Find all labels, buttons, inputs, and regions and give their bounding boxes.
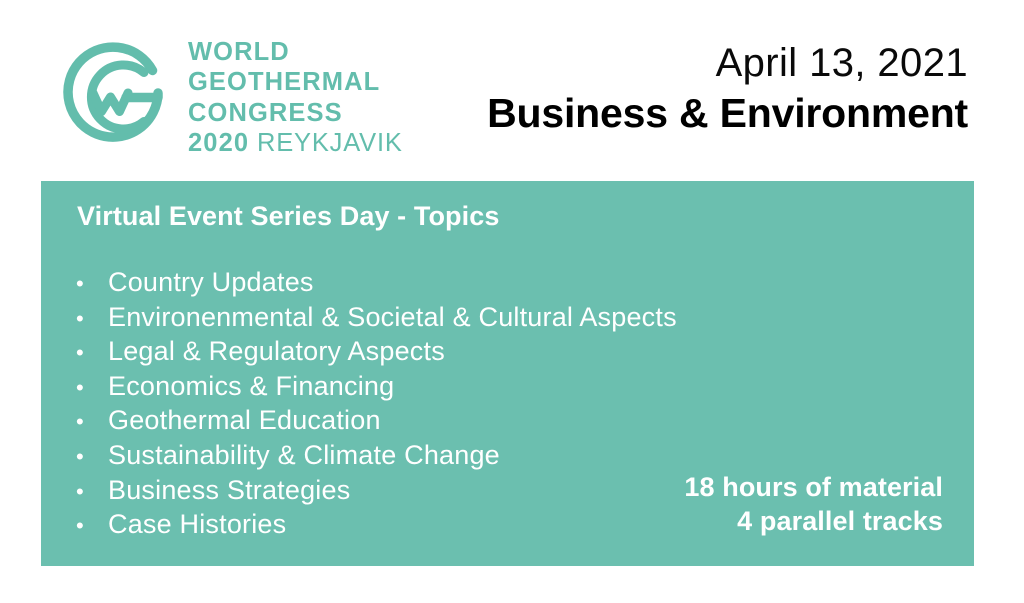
topic-label: Legal & Regulatory Aspects (108, 336, 445, 367)
topic-label: Sustainability & Climate Change (108, 440, 500, 471)
wgc-g-w-monogram-icon (52, 36, 174, 158)
stats-block: 18 hours of material 4 parallel tracks (684, 470, 943, 539)
panel-heading: Virtual Event Series Day - Topics (77, 201, 499, 232)
wordmark-line-congress: CONGRESS (188, 101, 403, 127)
event-date: April 13, 2021 (487, 42, 968, 84)
list-item: • Environenmental & Societal & Cultural … (72, 302, 677, 337)
bullet-icon: • (72, 515, 108, 537)
wordmark-city (249, 129, 257, 157)
topic-label: Business Strategies (108, 475, 350, 506)
topic-label: Economics & Financing (108, 371, 394, 402)
list-item: • Sustainability & Climate Change (72, 440, 677, 475)
list-item: • Economics & Financing (72, 371, 677, 406)
topic-label: Case Histories (108, 509, 286, 540)
topics-panel: Virtual Event Series Day - Topics • Coun… (41, 181, 974, 566)
wordmark-city-name: REYKJAVIK (257, 129, 403, 157)
bullet-icon: • (72, 411, 108, 433)
congress-wordmark: WORLD GEOTHERMAL CONGRESS 2020 REYKJAVIK (188, 40, 403, 157)
slide-root: WORLD GEOTHERMAL CONGRESS 2020 REYKJAVIK… (0, 0, 1024, 603)
event-title: Business & Environment (487, 91, 968, 136)
topic-label: Geothermal Education (108, 405, 381, 436)
topic-label: Environenmental & Societal & Cultural As… (108, 302, 677, 333)
bullet-icon: • (72, 446, 108, 468)
header-right-block: April 13, 2021 Business & Environment (487, 42, 968, 136)
list-item: • Business Strategies (72, 475, 677, 510)
bullet-icon: • (72, 481, 108, 503)
list-item: • Legal & Regulatory Aspects (72, 336, 677, 371)
list-item: • Country Updates (72, 267, 677, 302)
topics-list: • Country Updates • Environenmental & So… (72, 267, 677, 544)
congress-logo: WORLD GEOTHERMAL CONGRESS 2020 REYKJAVIK (52, 36, 403, 158)
topic-label: Country Updates (108, 267, 314, 298)
wordmark-line-year-city: 2020 REYKJAVIK (188, 131, 403, 157)
wordmark-year: 2020 (188, 129, 249, 157)
bullet-icon: • (72, 342, 108, 364)
wordmark-line-geothermal: GEOTHERMAL (188, 70, 403, 96)
wordmark-line-world: WORLD (188, 40, 403, 66)
bullet-icon: • (72, 377, 108, 399)
bullet-icon: • (72, 308, 108, 330)
stat-parallel-tracks: 4 parallel tracks (684, 504, 943, 539)
slide-header: WORLD GEOTHERMAL CONGRESS 2020 REYKJAVIK… (0, 0, 1024, 181)
stat-hours-of-material: 18 hours of material (684, 470, 943, 505)
bullet-icon: • (72, 273, 108, 295)
list-item: • Case Histories (72, 509, 677, 544)
list-item: • Geothermal Education (72, 405, 677, 440)
